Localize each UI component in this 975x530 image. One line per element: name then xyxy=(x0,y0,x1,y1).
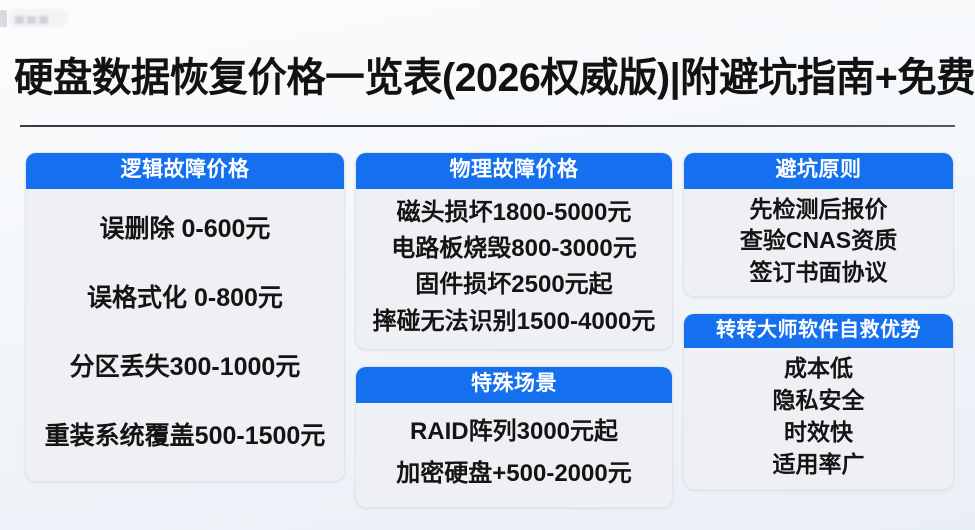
page-title: 硬盘数据恢复价格一览表(2026权威版)|附避坑指南+免费自救教程 xyxy=(14,46,952,102)
cards-board: 逻辑故障价格 误删除 0-600元 误格式化 0-800元 分区丢失300-10… xyxy=(0,152,975,497)
card-header-special-scenarios: 特殊场景 xyxy=(356,367,672,403)
column-middle: 物理故障价格 磁头损坏1800-5000元 电路板烧毁800-3000元 固件损… xyxy=(355,152,673,524)
card-logical-fault-prices: 逻辑故障价格 误删除 0-600元 误格式化 0-800元 分区丢失300-10… xyxy=(25,152,345,482)
card-body-logical-fault-prices: 误删除 0-600元 误格式化 0-800元 分区丢失300-1000元 重装系… xyxy=(26,189,344,481)
list-item: RAID阵列3000元起 xyxy=(410,419,618,446)
card-header-logical-fault-prices: 逻辑故障价格 xyxy=(26,153,344,189)
redacted-badge xyxy=(0,8,70,28)
title-divider xyxy=(20,125,955,127)
card-body-special-scenarios: RAID阵列3000元起 加密硬盘+500-2000元 xyxy=(356,403,672,507)
list-item: 磁头损坏1800-5000元 xyxy=(397,200,632,227)
card-header-software-advantages: 转转大师软件自救优势 xyxy=(684,314,953,349)
list-item: 误格式化 0-800元 xyxy=(87,284,283,312)
card-body-pitfall-principles: 先检测后报价 查验CNAS资质 签订书面协议 xyxy=(684,189,953,296)
list-item: 固件损坏2500元起 xyxy=(415,272,612,299)
card-pitfall-principles: 避坑原则 先检测后报价 查验CNAS资质 签订书面协议 xyxy=(683,152,954,297)
card-physical-fault-prices: 物理故障价格 磁头损坏1800-5000元 电路板烧毁800-3000元 固件损… xyxy=(355,152,673,350)
card-header-pitfall-principles: 避坑原则 xyxy=(684,153,953,189)
list-item: 分区丢失300-1000元 xyxy=(70,353,301,381)
card-special-scenarios: 特殊场景 RAID阵列3000元起 加密硬盘+500-2000元 xyxy=(355,366,673,508)
list-item: 加密硬盘+500-2000元 xyxy=(396,461,631,488)
list-item: 签订书面协议 xyxy=(750,260,888,286)
list-item: 适用率广 xyxy=(773,452,865,478)
list-item: 误删除 0-600元 xyxy=(100,215,271,243)
list-item: 成本低 xyxy=(784,356,853,382)
list-item: 重装系统覆盖500-1500元 xyxy=(45,422,326,450)
card-body-physical-fault-prices: 磁头损坏1800-5000元 电路板烧毁800-3000元 固件损坏2500元起… xyxy=(356,189,672,349)
list-item: 先检测后报价 xyxy=(750,197,888,223)
list-item: 摔碰无法识别1500-4000元 xyxy=(373,309,656,336)
column-right: 避坑原则 先检测后报价 查验CNAS资质 签订书面协议 转转大师软件自救优势 成… xyxy=(683,152,954,506)
column-left: 逻辑故障价格 误删除 0-600元 误格式化 0-800元 分区丢失300-10… xyxy=(25,152,345,498)
redaction-pill xyxy=(9,9,67,27)
list-item: 电路板烧毁800-3000元 xyxy=(391,236,636,263)
redaction-block xyxy=(27,16,36,24)
card-header-physical-fault-prices: 物理故障价格 xyxy=(356,153,672,189)
card-software-advantages: 转转大师软件自救优势 成本低 隐私安全 时效快 适用率广 xyxy=(683,313,954,491)
list-item: 隐私安全 xyxy=(773,388,865,414)
redaction-bar xyxy=(0,10,7,27)
card-body-software-advantages: 成本低 隐私安全 时效快 适用率广 xyxy=(684,348,953,489)
list-item: 时效快 xyxy=(784,420,853,446)
redaction-block xyxy=(39,16,48,24)
redaction-block xyxy=(15,16,24,24)
list-item: 查验CNAS资质 xyxy=(740,228,897,254)
